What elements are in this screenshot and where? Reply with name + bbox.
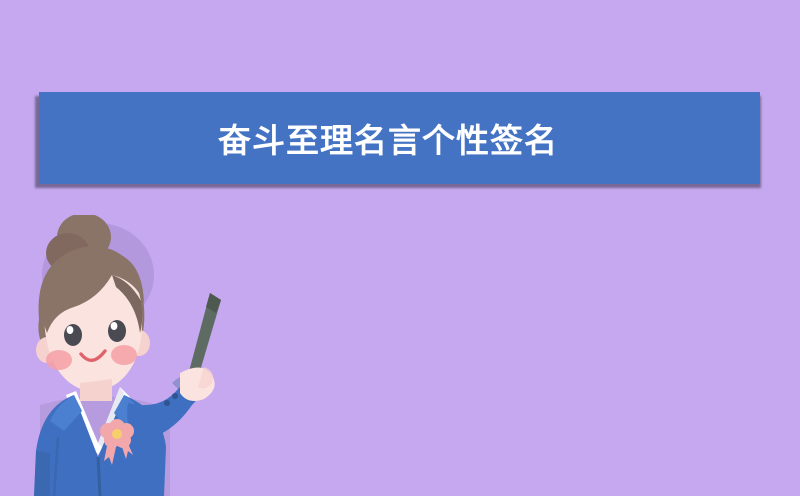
page-canvas: 奋斗至理名言个性签名 (0, 0, 800, 496)
page-title: 奋斗至理名言个性签名 (218, 114, 558, 162)
eye-left (64, 324, 82, 346)
eye-right (108, 320, 126, 342)
blush-right (111, 345, 137, 365)
sleeve-button-2 (172, 393, 178, 399)
jacket-seam (98, 457, 100, 496)
rosette-center (112, 429, 122, 439)
eye-highlight-right (111, 322, 118, 330)
title-banner: 奋斗至理名言个性签名 (39, 92, 760, 184)
eye-highlight-left (67, 326, 74, 334)
teacher-illustration (20, 215, 260, 496)
sleeve-button-1 (164, 400, 170, 406)
blush-left (46, 350, 72, 370)
